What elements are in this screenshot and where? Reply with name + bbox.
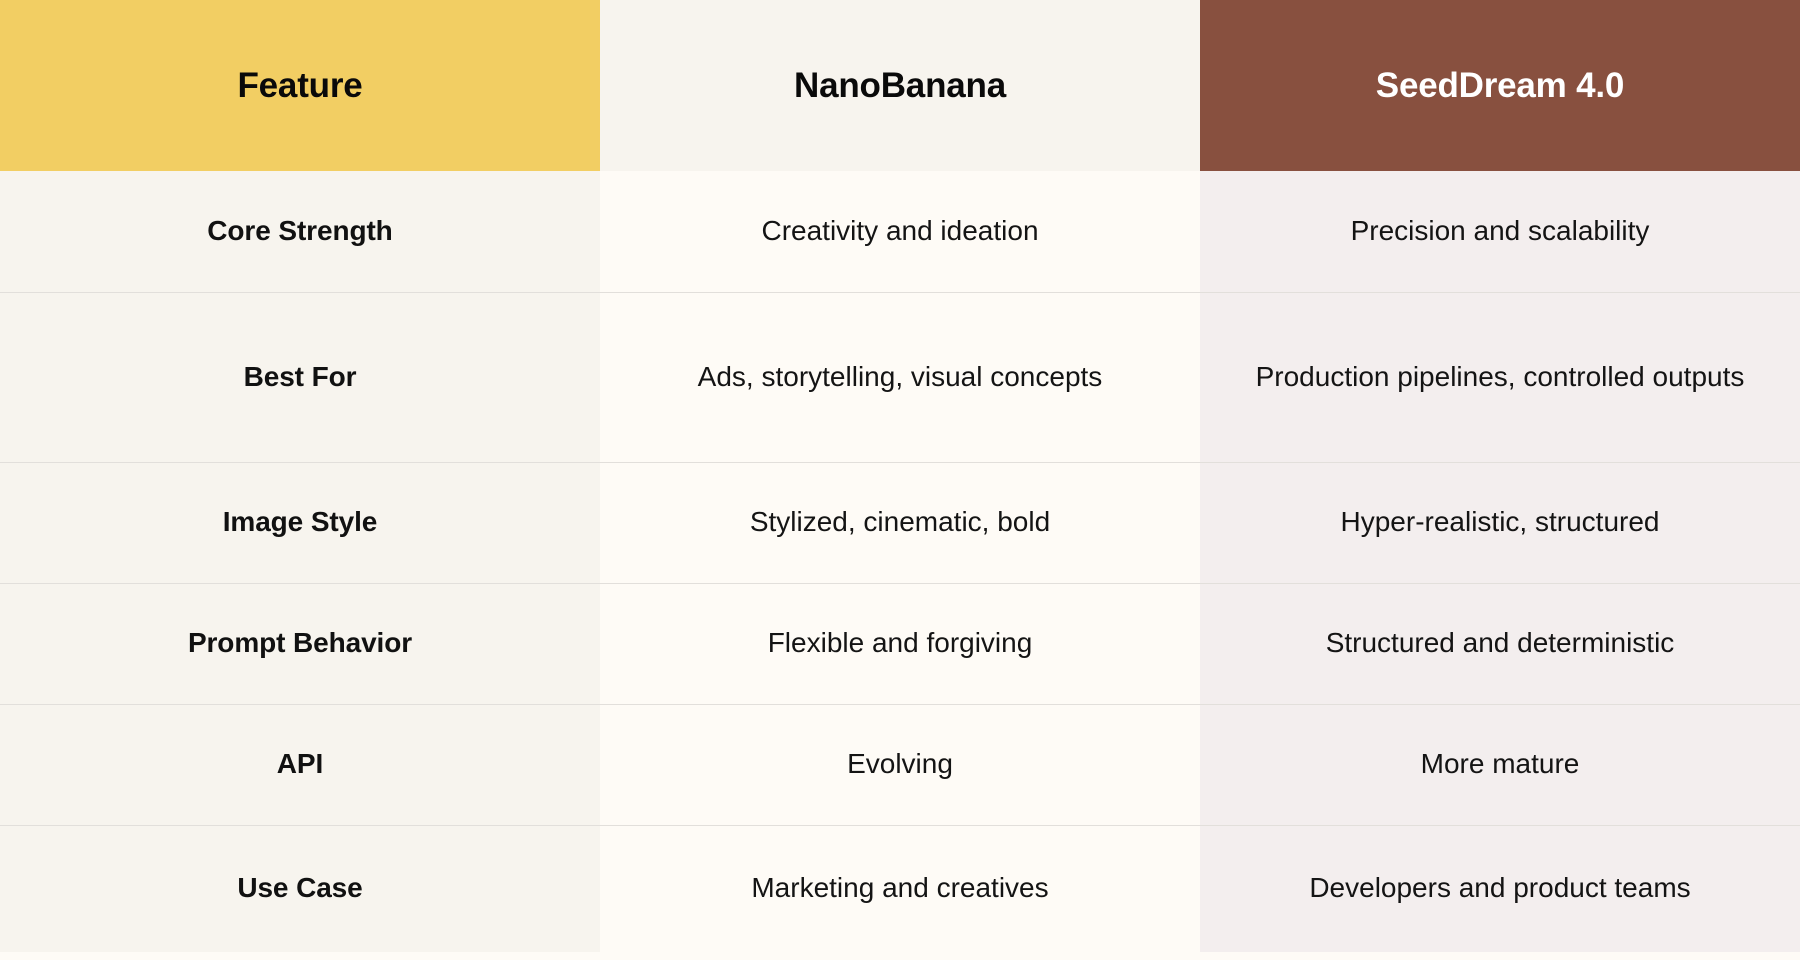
cell-feature-label: API — [0, 704, 600, 825]
column-header-feature: Feature — [0, 0, 600, 171]
table-header-row: Feature NanoBanana SeedDream 4.0 — [0, 0, 1800, 171]
cell-seeddream-value: Developers and product teams — [1200, 825, 1800, 952]
cell-seeddream-value: More mature — [1200, 704, 1800, 825]
table-row: Use Case Marketing and creatives Develop… — [0, 825, 1800, 952]
cell-feature-label: Core Strength — [0, 171, 600, 292]
cell-seeddream-value: Production pipelines, controlled outputs — [1200, 292, 1800, 462]
cell-nanobanana-value: Flexible and forgiving — [600, 583, 1200, 704]
cell-seeddream-value: Structured and deterministic — [1200, 583, 1800, 704]
cell-nanobanana-value: Creativity and ideation — [600, 171, 1200, 292]
cell-nanobanana-value: Stylized, cinematic, bold — [600, 462, 1200, 583]
cell-feature-label: Image Style — [0, 462, 600, 583]
table-row: Core Strength Creativity and ideation Pr… — [0, 171, 1800, 292]
table-row: Prompt Behavior Flexible and forgiving S… — [0, 583, 1800, 704]
cell-feature-label: Use Case — [0, 825, 600, 952]
column-header-nanobanana: NanoBanana — [600, 0, 1200, 171]
table-row: Best For Ads, storytelling, visual conce… — [0, 292, 1800, 462]
column-header-seeddream: SeedDream 4.0 — [1200, 0, 1800, 171]
cell-feature-label: Best For — [0, 292, 600, 462]
cell-nanobanana-value: Evolving — [600, 704, 1200, 825]
cell-seeddream-value: Hyper-realistic, structured — [1200, 462, 1800, 583]
table-row: Image Style Stylized, cinematic, bold Hy… — [0, 462, 1800, 583]
cell-seeddream-value: Precision and scalability — [1200, 171, 1800, 292]
cell-feature-label: Prompt Behavior — [0, 583, 600, 704]
cell-nanobanana-value: Ads, storytelling, visual concepts — [600, 292, 1200, 462]
cell-nanobanana-value: Marketing and creatives — [600, 825, 1200, 952]
comparison-table: Feature NanoBanana SeedDream 4.0 Core St… — [0, 0, 1800, 952]
table-row: API Evolving More mature — [0, 704, 1800, 825]
table-body: Core Strength Creativity and ideation Pr… — [0, 171, 1800, 952]
